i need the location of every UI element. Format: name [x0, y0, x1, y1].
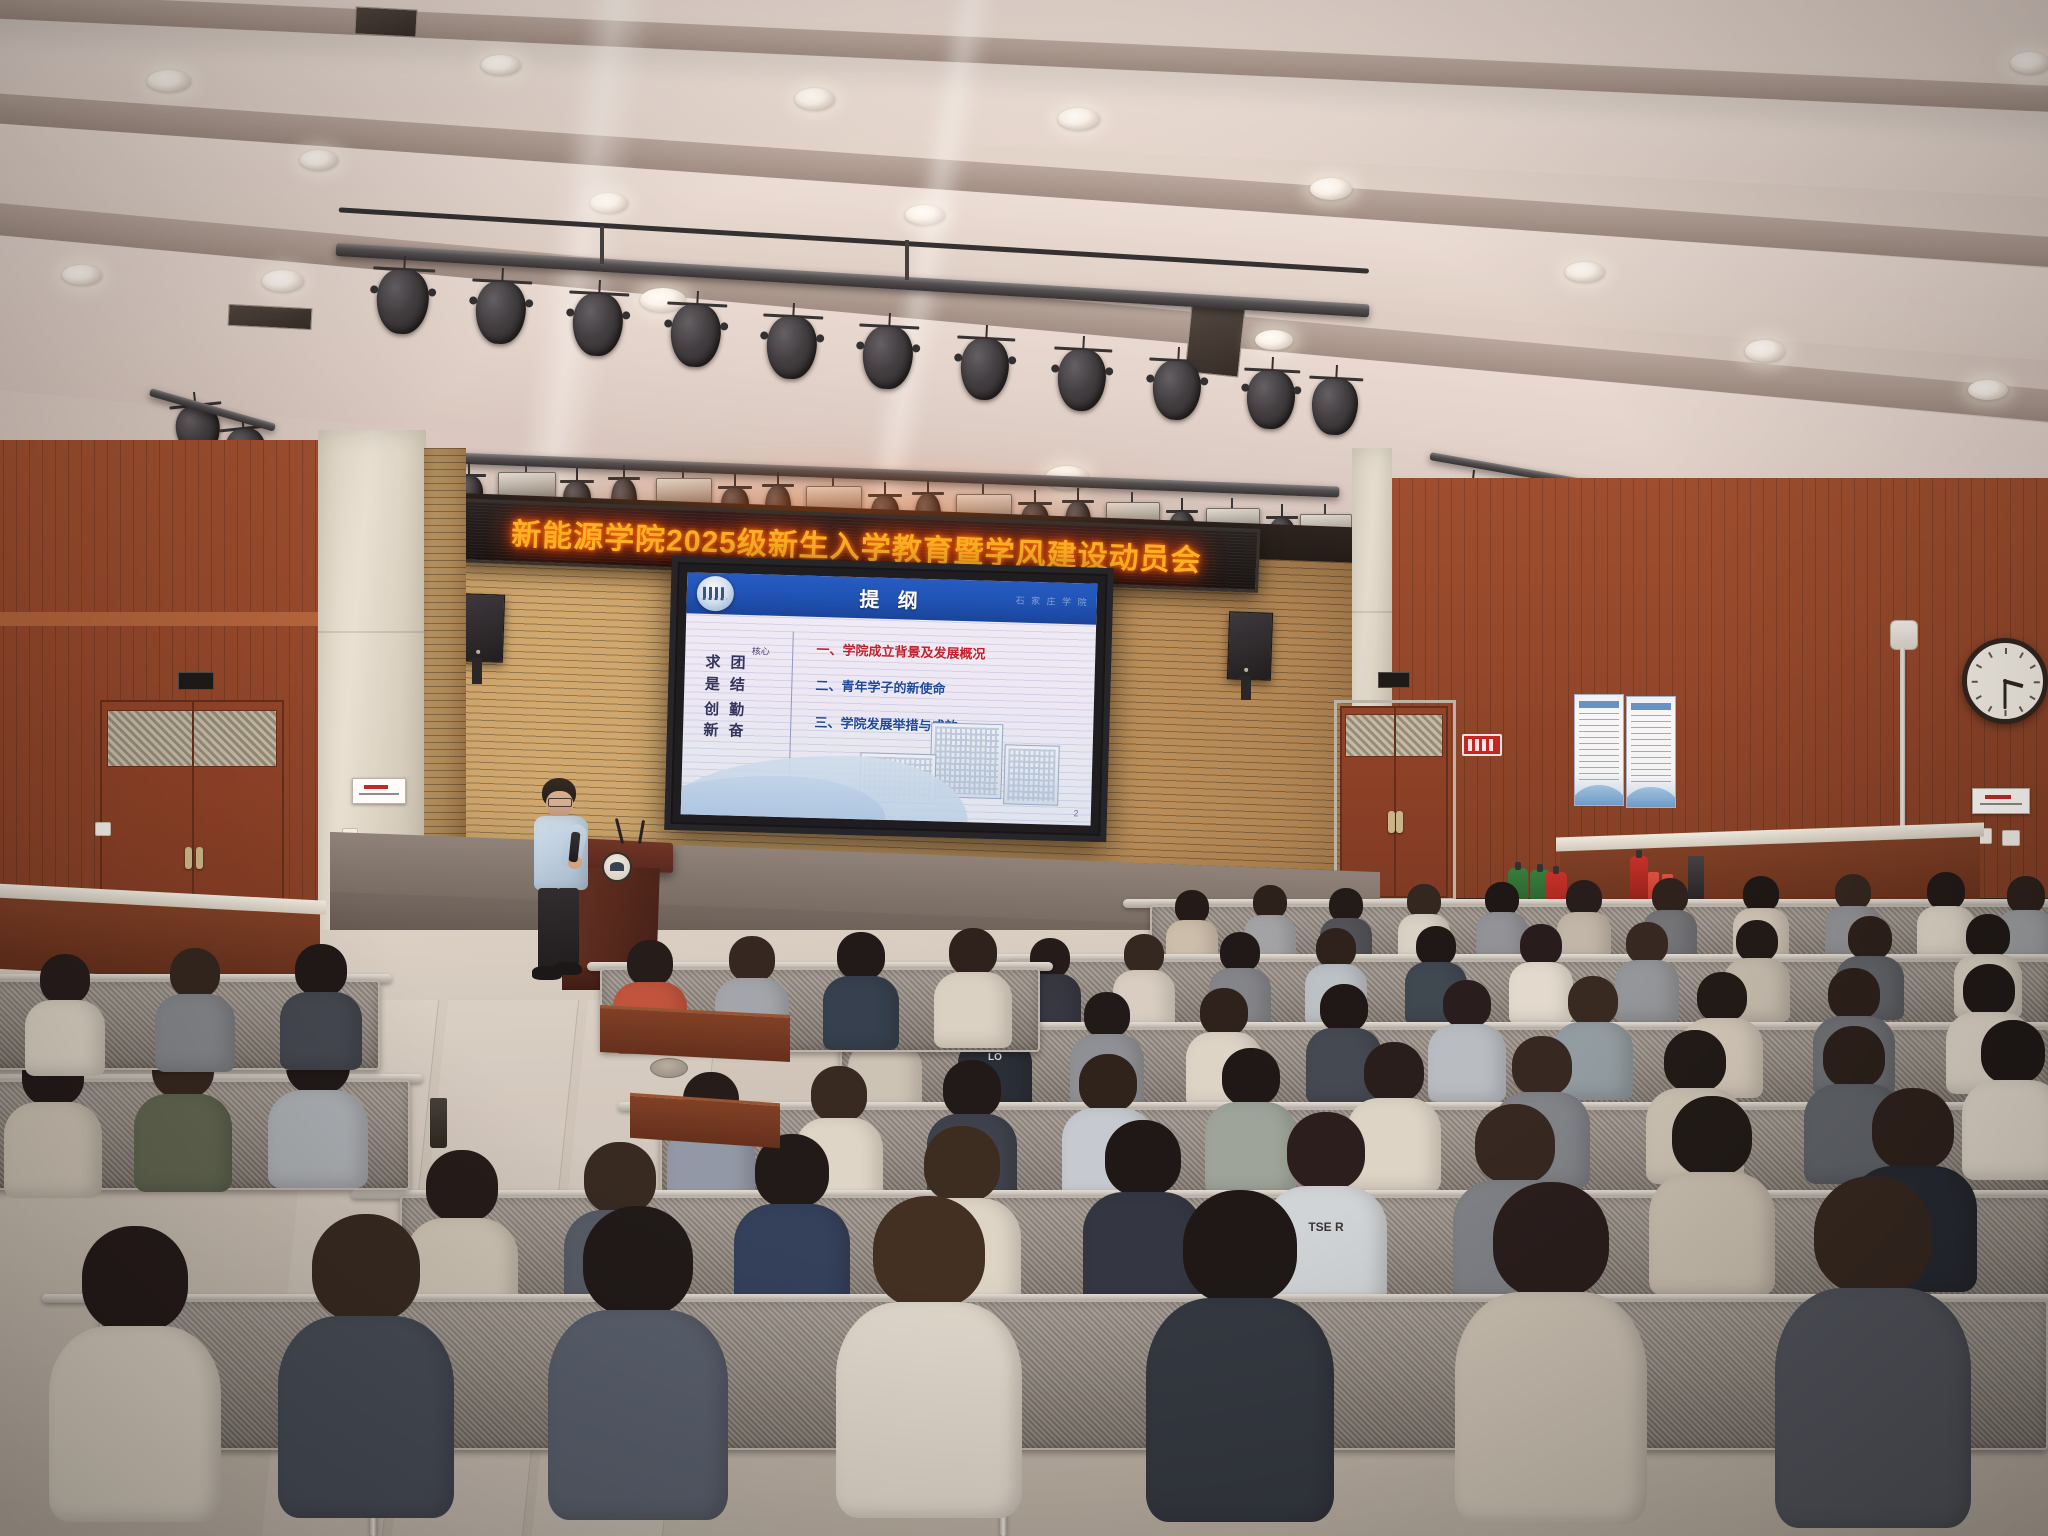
projection-screen: 提 纲 石 家 庄 学 院 核心 求团 是结 创勤 新奋 一、学院成立背景及发展…: [664, 556, 1113, 842]
calligraphy-char: 结: [730, 677, 745, 693]
calligraphy-char: 求: [705, 655, 720, 671]
hvac-vent: [354, 6, 417, 37]
school-logo-icon: [696, 576, 734, 612]
stage-spotlight: [954, 323, 1016, 404]
clock-minute-hand: [2004, 681, 2007, 709]
electrical-panel-sign: [1462, 734, 1502, 756]
audience-member: [290, 1214, 442, 1514]
door-label-sign: [1378, 672, 1410, 688]
aisle-table: [600, 1005, 790, 1062]
stage-spotlight: [760, 301, 824, 384]
speaker-mount-left: [472, 658, 482, 684]
presentation-slide: 提 纲 石 家 庄 学 院 核心 求团 是结 创勤 新奋 一、学院成立背景及发展…: [681, 572, 1098, 825]
ceiling-downlight: [1565, 262, 1605, 282]
audience-member: [560, 1206, 716, 1516]
calligraphy-char: 新: [703, 723, 718, 739]
stage-spotlight: [1146, 345, 1208, 424]
hvac-vent: [227, 304, 312, 330]
ceiling-downlight: [2010, 52, 2048, 74]
presenter-shoe: [554, 962, 582, 975]
thermos: [430, 1098, 447, 1148]
audience-member: [30, 954, 100, 1068]
slide-calligraphy: 核心 求团 是结 创勤 新奋: [703, 645, 784, 747]
glasses-icon: [548, 798, 572, 807]
audience-member: [1160, 1190, 1320, 1520]
audience-member: [850, 1196, 1008, 1516]
audience-member: [1790, 1176, 1956, 1526]
outline-text: 学院成立背景及发展概况: [842, 643, 985, 662]
slide-title: 提 纲: [859, 583, 925, 614]
light-switch: [95, 822, 111, 836]
audience-member: [828, 932, 894, 1044]
presenter-legs: [557, 888, 579, 966]
calligraphy-char: 是: [705, 677, 720, 693]
speaker-mount-right: [1241, 676, 1251, 700]
audience-member: [160, 948, 230, 1064]
stage-spotlight: [1241, 356, 1301, 433]
wall-sign-right: [1972, 788, 2030, 814]
presenter: [530, 778, 600, 988]
lecture-hall-photo: 新能源学院2025级新生入学教育暨学风建设动员会 提 纲 石 家 庄 学 院 核…: [0, 0, 2048, 1536]
audience-member: [60, 1226, 210, 1516]
audience-member: [1968, 1020, 2048, 1172]
ceiling-downlight: [481, 55, 521, 75]
ceiling-downlight: [1255, 330, 1293, 350]
left-wall-slats: [424, 448, 466, 848]
ceiling-downlight: [1058, 108, 1100, 130]
calligraphy-char: 创: [704, 701, 719, 717]
stage-spotlight: [664, 289, 728, 372]
outline-item: 一、学院成立背景及发展概况: [816, 639, 1083, 665]
stage-spotlight: [1306, 364, 1364, 439]
ceiling-downlight: [1968, 380, 2008, 400]
calligraphy-char: 勤: [729, 702, 744, 718]
slide-page-number: 2: [1073, 808, 1078, 818]
motion-sensor: [1890, 620, 1918, 650]
wall-switch: [2002, 830, 2020, 846]
outline-index: 三、: [814, 714, 840, 730]
campus-illustration: [1003, 744, 1060, 806]
audience-member: [740, 1134, 844, 1310]
calligraphy-char: 奋: [728, 724, 743, 740]
notice-poster: [1626, 696, 1676, 808]
door-label-sign: [178, 672, 214, 690]
audience-member: [1432, 980, 1502, 1096]
podium-emblem-icon: [602, 852, 632, 882]
ceiling-downlight: [905, 205, 945, 225]
outline-index: 二、: [815, 678, 841, 694]
ceiling-downlight: [62, 265, 102, 285]
calligraphy-top: 核心: [752, 647, 784, 657]
notice-poster: [1574, 694, 1624, 806]
wall-shelf-edge: [0, 612, 320, 626]
ceiling-downlight: [1310, 178, 1352, 200]
outline-index: 一、: [816, 642, 842, 658]
audience-member: [1656, 1096, 1768, 1286]
slide-header-bar: 提 纲 石 家 庄 学 院: [686, 572, 1097, 625]
audience-member: [940, 928, 1006, 1042]
slide-divider: [788, 631, 793, 774]
truss-conduit: [600, 226, 604, 264]
truss-conduit: [905, 240, 909, 280]
ceiling-downlight: [300, 150, 338, 170]
stage-spotlight: [370, 254, 436, 339]
slide-watermark: 石 家 庄 学 院: [1015, 594, 1088, 609]
stage-spotlight: [856, 311, 920, 394]
audience-member: [286, 944, 356, 1062]
outline-text: 青年学子的新使命: [841, 679, 945, 697]
stage-spotlight: [566, 278, 630, 361]
wall-sign-left: [352, 778, 406, 804]
wall-speaker-right: [1227, 611, 1273, 680]
wall-clock: [1962, 638, 2048, 724]
ceiling-downlight: [1745, 340, 1785, 362]
audience-member: [1470, 1182, 1632, 1522]
clock-hour-hand: [2005, 679, 2024, 687]
stage-spotlight: [469, 266, 533, 349]
right-exit-door: [1340, 706, 1448, 898]
ceiling-downlight: [262, 270, 304, 292]
ceiling-downlight: [590, 193, 628, 213]
ceiling-downlight: [147, 70, 191, 92]
stage-spotlight: [1051, 334, 1113, 415]
outline-item: 二、青年学子的新使命: [815, 675, 1082, 701]
calligraphy-char: 团: [730, 656, 745, 672]
ceiling-downlight: [795, 88, 835, 110]
